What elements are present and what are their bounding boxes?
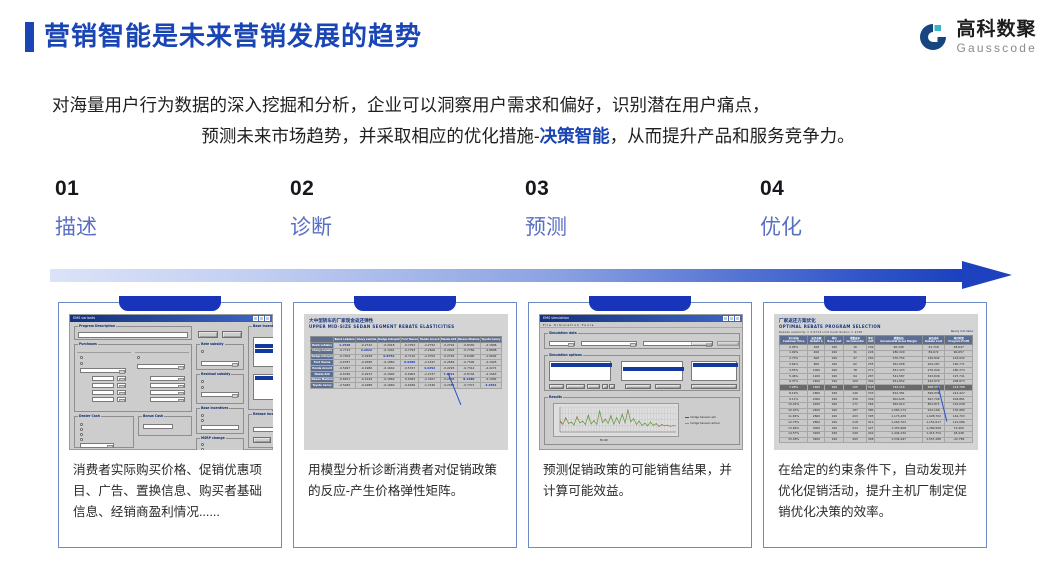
radio-not-offered[interactable] xyxy=(137,356,140,359)
rebate-col-header: 单价Base Cost xyxy=(825,336,844,345)
matrix-cell: -0.7371 xyxy=(457,383,480,389)
models-listbox[interactable] xyxy=(253,337,273,367)
arrow-bar xyxy=(50,269,970,282)
window-titlebar: EMS variants xyxy=(70,315,272,322)
card-row: EMS variants Program Description Purchas… xyxy=(0,296,1051,552)
rate-60-combo[interactable] xyxy=(150,397,185,402)
group-results: Results Dodge Caravan sim Dodge Caravan … xyxy=(544,397,740,445)
radio-apr[interactable] xyxy=(201,386,204,389)
sim-chart-svg xyxy=(554,404,680,438)
maximize-icon xyxy=(259,316,264,321)
rebate-cell: 1,534,497 xyxy=(875,437,922,443)
rate-36-combo[interactable] xyxy=(150,383,185,388)
term-24-combo[interactable] xyxy=(117,376,126,381)
move-down-button[interactable] xyxy=(609,384,615,389)
step-03-number: 03 xyxy=(525,176,725,202)
rebate-cell: 1,557,286 xyxy=(922,437,945,443)
radio-msrp-pct[interactable] xyxy=(201,448,204,450)
residual-input[interactable] xyxy=(201,425,239,430)
window-titlebar: EMS simulation xyxy=(540,315,742,322)
select-all-button[interactable] xyxy=(625,384,651,389)
card-02-screenshot: 大中型轿车的厂家现金返还弹性 UPPER MID-SIZE SEDAN SEGM… xyxy=(304,314,508,450)
group-label: Base incentives xyxy=(200,406,229,410)
term-60-combo[interactable] xyxy=(117,397,126,402)
lead-line-1: 对海量用户行为数据的深入挖掘和分析，企业可以洞察用户需求和偏好，识别潜在用户痛点… xyxy=(52,90,1004,121)
title-accent-bar xyxy=(25,22,34,52)
step-02: 02 诊断 xyxy=(290,176,490,241)
comment-input[interactable] xyxy=(78,332,188,338)
step-01-label: 描述 xyxy=(55,215,255,241)
radio-lease-only[interactable] xyxy=(80,438,83,441)
scenario-selected xyxy=(551,363,612,367)
window-title-text: EMS variants xyxy=(73,315,95,322)
options-listbox[interactable] xyxy=(691,361,737,381)
scenarios-listbox[interactable] xyxy=(549,361,611,381)
card-03-predict[interactable]: EMS simulation File Simulation Tools Sim… xyxy=(528,302,752,548)
group-base-incentives: Base incentives xyxy=(248,326,273,410)
rate-subsidy-combo[interactable] xyxy=(201,392,239,397)
group-rate-subsidy: Residual subsidy xyxy=(196,374,244,404)
group-label: Simulation options xyxy=(548,353,583,357)
window-title-text: EMS simulation xyxy=(543,315,569,322)
elasticity-matrix-table: Buick LeSabreChevy LuminaDodge IntrepidF… xyxy=(310,336,502,389)
edit-button[interactable] xyxy=(587,384,600,389)
rate-24-combo[interactable] xyxy=(150,376,185,381)
stop-button[interactable] xyxy=(717,341,739,346)
group-rebase-incentives: Rebase incentives xyxy=(248,414,273,448)
matrix-cell: -0.5645 xyxy=(334,383,356,389)
group-purchases: Purchases xyxy=(74,344,192,412)
matrix-cell: -1.7436 xyxy=(419,383,440,389)
term-60-input[interactable] xyxy=(92,397,114,402)
group-program-description: Program Description xyxy=(74,326,192,340)
card-01-screenshot: EMS variants Program Description Purchas… xyxy=(69,314,273,450)
gausscode-g-mark-icon xyxy=(917,21,949,53)
legend-swatch-sim xyxy=(685,417,689,419)
progress-arrow xyxy=(50,261,1012,291)
table-row: 15.48%34001902654581,534,4971,557,286-22… xyxy=(780,437,973,443)
rebate-cell: 15.48% xyxy=(780,437,808,443)
rebate-note: Nearly Unit Sales xyxy=(951,330,973,333)
group-residual-subsidy: Base incentives xyxy=(196,408,244,434)
step-04-label: 优化 xyxy=(760,215,960,241)
step-04: 04 优化 xyxy=(760,176,960,241)
option-selected xyxy=(693,363,738,367)
rebate-title-en: OPTIMAL REBATE PROGRAM SELECTION xyxy=(779,324,881,329)
graph-button[interactable] xyxy=(691,384,737,389)
rate-48-combo[interactable] xyxy=(150,390,185,395)
brand-logo: 高科数聚 Gausscode xyxy=(917,20,1037,54)
minimize-icon xyxy=(253,316,258,321)
step-02-number: 02 xyxy=(290,176,490,202)
step-04-number: 04 xyxy=(760,176,960,202)
card-04-caption: 在给定的约束条件下，自动发现并优化促销活动，提升主机厂制定促销优化决策的效率。 xyxy=(778,460,974,523)
window-controls[interactable] xyxy=(253,316,272,321)
start-clock-button[interactable] xyxy=(691,341,713,346)
matrix-cell: -0.1988 xyxy=(356,383,378,389)
results-line-chart xyxy=(553,403,679,437)
group-simulation-data: Simulation data xyxy=(544,333,740,349)
remove-button[interactable] xyxy=(566,384,585,389)
logo-text-cn: 高科数聚 xyxy=(956,20,1037,39)
table-row: Toyota Camry-0.5645-0.1988-0.1660-0.6189… xyxy=(311,383,502,389)
term-24-input[interactable] xyxy=(92,376,114,381)
group-label: Residual subsidy xyxy=(200,372,231,376)
card-01-describe[interactable]: EMS variants Program Description Purchas… xyxy=(58,302,282,548)
rebate-cell: 190 xyxy=(825,437,844,443)
radio-all-cash-fin-lease[interactable] xyxy=(80,433,83,436)
rebate-cell: 3400 xyxy=(808,437,825,443)
clear-all-button[interactable] xyxy=(655,384,681,389)
step-01-number: 01 xyxy=(55,176,255,202)
card-04-optimize[interactable]: 厂家返还方案优化 OPTIMAL REBATE PROGRAM SELECTIO… xyxy=(763,302,987,548)
lead-line-2: 预测未来市场趋势，并采取相应的优化措施-决策智能，从而提升产品和服务竞争力。 xyxy=(52,121,1004,152)
card-04-screenshot: 厂家返还方案优化 OPTIMAL REBATE PROGRAM SELECTIO… xyxy=(774,314,978,450)
group-label: Purchases xyxy=(78,342,98,346)
lead-line-2-b: ，从而提升产品和服务竞争力。 xyxy=(610,126,855,146)
group-label: Base incentives xyxy=(252,324,273,328)
window-controls[interactable] xyxy=(723,316,742,321)
term-36-input[interactable] xyxy=(92,383,114,388)
radio-amount[interactable] xyxy=(201,414,204,417)
group-label: Rate subsidy xyxy=(200,342,225,346)
radio-rebate-cash-fin[interactable] xyxy=(80,428,83,431)
group-dealer-cash: Dealer Cash xyxy=(74,416,134,448)
legend-swatch-actual xyxy=(685,423,689,425)
rebate-cell: 265 xyxy=(844,437,867,443)
radio-no-subsidy[interactable] xyxy=(201,350,204,353)
rebate-subline: Rebate elasticity = 0.8712 Unit Contribu… xyxy=(779,330,863,334)
step-02-label: 诊断 xyxy=(290,215,490,241)
regions-listbox[interactable] xyxy=(253,374,273,400)
market-share-combo[interactable] xyxy=(549,341,575,346)
card-01-caption: 消费者实际购买价格、促销优惠项目、广告、置换信息、购买者基础信息、经销商盈利情况… xyxy=(73,460,269,523)
group-bonus-cash: Bonus Cash xyxy=(138,416,192,436)
legend-label-sim: Dodge Caravan sim xyxy=(691,416,717,419)
legend-label-actual: Dodge Caravan actual xyxy=(691,422,720,425)
correlation-footnote: (Correlation = 0.96386) xyxy=(554,449,587,450)
card-01-tab xyxy=(119,296,221,311)
ems-simulation-window: EMS simulation File Simulation Tools Sim… xyxy=(539,314,743,450)
rebate-cell: -22,789 xyxy=(945,437,973,443)
step-labels: 01 描述 02 诊断 03 预测 04 优化 xyxy=(0,176,1051,248)
group-label: MSRP change xyxy=(200,436,226,440)
page-title: 营销智能是未来营销发展的趋势 xyxy=(44,18,422,54)
step-03: 03 预测 xyxy=(525,176,725,241)
group-msrp-change: MSRP change xyxy=(196,438,244,450)
card-03-tab xyxy=(589,296,691,311)
radio-msrp-amount[interactable] xyxy=(201,443,204,446)
chart-legend-item-sim: Dodge Caravan sim xyxy=(685,416,716,419)
card-02-tab xyxy=(354,296,456,311)
group-lessees: Rate subsidy xyxy=(196,344,244,370)
ems-variants-window: EMS variants Program Description Purchas… xyxy=(69,314,273,450)
matrix-cell: -0.1660 xyxy=(377,383,400,389)
matrix-cell: -0.6189 xyxy=(401,383,419,389)
group-label: Dealer Cash xyxy=(78,414,101,418)
radio-no-apr-subsidy[interactable] xyxy=(80,362,83,365)
step-01: 01 描述 xyxy=(55,176,255,241)
radio-no-rebate[interactable] xyxy=(80,356,83,359)
radio-pct-msrp[interactable] xyxy=(201,419,204,422)
card-04-tab xyxy=(824,296,926,311)
arrow-head-icon xyxy=(962,261,1012,289)
rebate-col-header: 单位Unit xyxy=(866,336,875,345)
rebate-col-header: 增量收益Incremental Gross Margin xyxy=(875,336,922,345)
rebate-cell: 458 xyxy=(866,437,875,443)
term-36-combo[interactable] xyxy=(117,383,126,388)
window-menubar[interactable]: File Simulation Tools xyxy=(540,322,742,328)
rebate-col-header: 返还金额Rebate $ xyxy=(808,336,825,345)
chart-legend-item-actual: Dodge Caravan actual xyxy=(685,422,719,425)
card-03-caption: 预测促销政策的可能销售结果，并计算可能效益。 xyxy=(543,460,739,502)
elasticity-matrix-window: 大中型轿车的厂家现金返还弹性 UPPER MID-SIZE SEDAN SEGM… xyxy=(304,314,508,450)
matrix-row-header: Toyota Camry xyxy=(311,383,334,389)
models-selected-2 xyxy=(255,349,274,353)
move-up-button[interactable] xyxy=(602,384,608,389)
group-label: Program Description xyxy=(78,324,116,328)
segment-combo[interactable] xyxy=(581,341,637,346)
group-label: Rebase incentives xyxy=(252,412,273,416)
lead-highlight: 决策智能 xyxy=(540,126,610,146)
term-48-input[interactable] xyxy=(92,390,114,395)
save-button[interactable] xyxy=(198,331,218,338)
close-icon xyxy=(265,316,270,321)
minimize-icon xyxy=(723,316,728,321)
logo-text-en: Gausscode xyxy=(956,42,1037,54)
models-selected-1 xyxy=(255,344,274,348)
lead-line-2-a: 预测未来市场趋势，并采取相应的优化措施- xyxy=(201,126,539,146)
group-label: Simulation data xyxy=(548,331,578,335)
optimal-rebate-window: 厂家返还方案优化 OPTIMAL REBATE PROGRAM SELECTIO… xyxy=(774,314,978,450)
slide-header: 营销智能是未来营销发展的趋势 高科数聚 Gausscode xyxy=(0,0,1051,72)
rebate-col-header: 返还成本Rebate Cost xyxy=(922,336,945,345)
bonus-cash-input[interactable] xyxy=(143,424,173,429)
close-icon xyxy=(735,316,740,321)
model-selected xyxy=(623,367,684,371)
apr-select[interactable] xyxy=(137,364,185,369)
rebase-clear-button[interactable] xyxy=(253,437,271,443)
models-listbox[interactable] xyxy=(621,361,683,381)
logo-text: 高科数聚 Gausscode xyxy=(956,20,1037,54)
slide-root: 营销智能是未来营销发展的趋势 高科数聚 Gausscode 对海量用户行为数据的… xyxy=(0,0,1051,586)
group-simulation-options: Simulation options xyxy=(544,355,740,391)
card-03-screenshot: EMS simulation File Simulation Tools Sim… xyxy=(539,314,743,450)
add-button[interactable] xyxy=(549,384,564,389)
rebate-col-header: 实付价格Customer Price xyxy=(780,336,808,345)
lead-paragraph: 对海量用户行为数据的深入挖掘和分析，企业可以洞察用户需求和偏好，识别潜在用户痛点… xyxy=(52,90,1004,152)
chart-xlabel: Month xyxy=(600,439,608,442)
group-label: Bonus Cash xyxy=(142,414,164,418)
group-label: Results xyxy=(548,395,563,399)
maximize-icon xyxy=(729,316,734,321)
rebase-model-combo[interactable] xyxy=(253,427,273,432)
radio-cash-only[interactable] xyxy=(80,423,83,426)
rebate-select[interactable] xyxy=(80,368,126,373)
lessee-cash-combo[interactable] xyxy=(201,361,239,366)
term-48-combo[interactable] xyxy=(117,390,126,395)
close-button[interactable] xyxy=(222,331,242,338)
optimal-rebate-table: 实付价格Customer Price返还金额Rebate $单价Base Cos… xyxy=(779,335,973,443)
matrix-cell: 4.2561 xyxy=(480,383,501,389)
step-03-label: 预测 xyxy=(525,215,725,241)
rebate-col-header: 增量成本Incremental xyxy=(844,336,867,345)
dealer-cash-combo[interactable] xyxy=(80,443,114,448)
radio-money-factor[interactable] xyxy=(201,380,204,383)
regions-selected xyxy=(255,376,274,380)
card-02-diagnose[interactable]: 大中型轿车的厂家现金返还弹性 UPPER MID-SIZE SEDAN SEGM… xyxy=(293,302,517,548)
matrix-title-en: UPPER MID-SIZE SEDAN SEGMENT REBATE ELAS… xyxy=(309,324,455,329)
card-02-caption: 用模型分析诊断消费者对促销政策的反应-产生价格弹性矩阵。 xyxy=(308,460,504,502)
rebate-col-header: 项目利润Program Profit xyxy=(945,336,973,345)
